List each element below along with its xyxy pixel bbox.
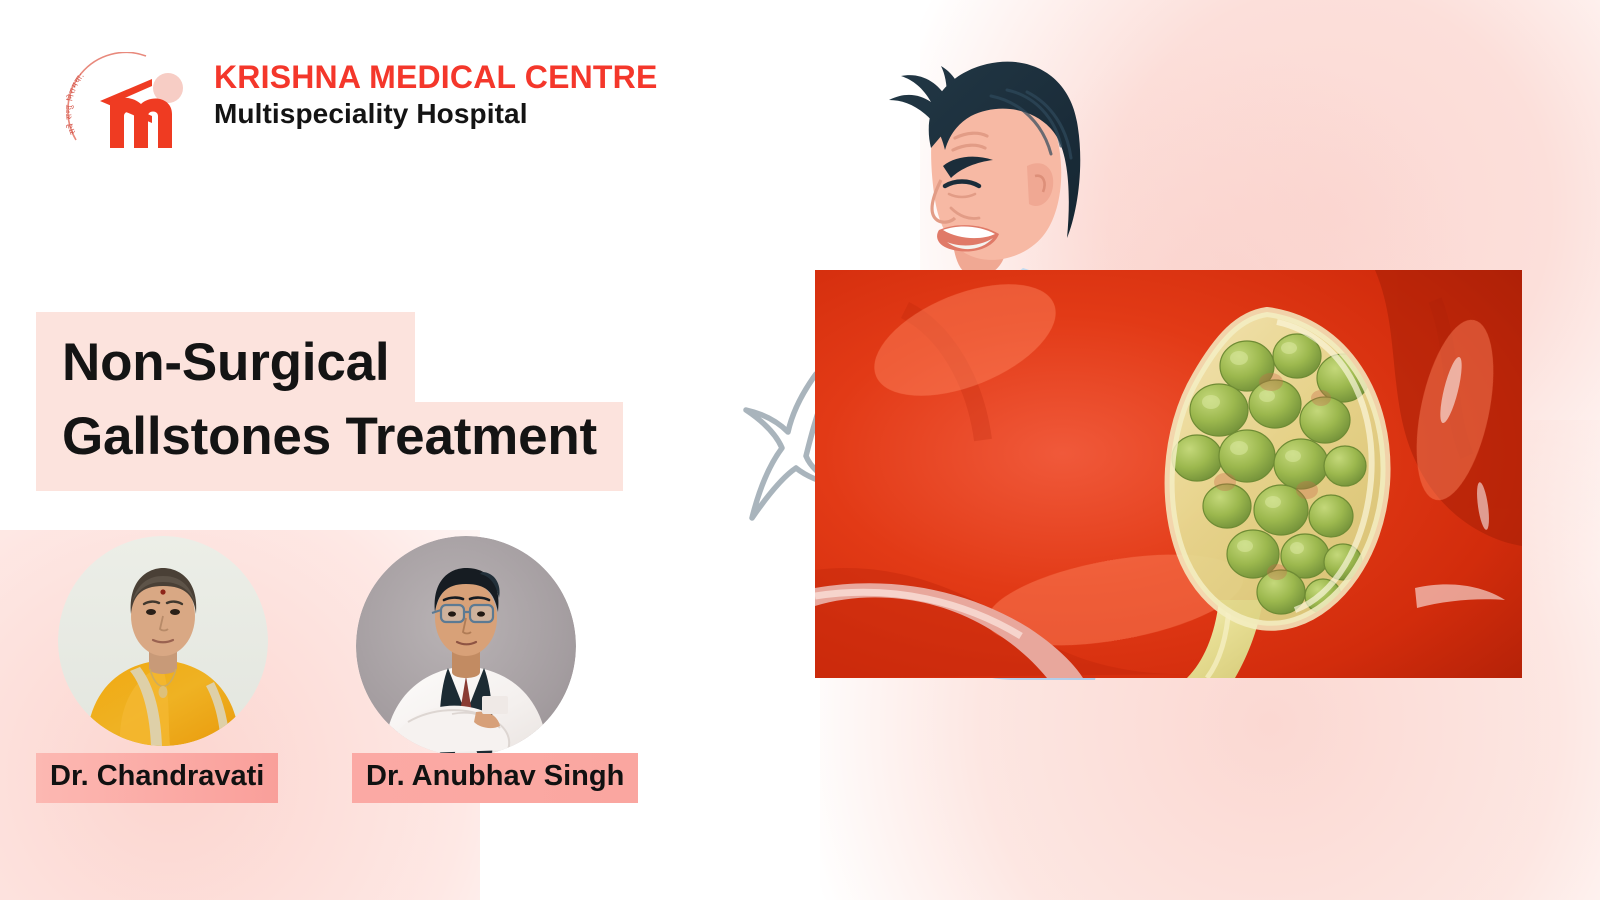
illustration-group: [700, 0, 1600, 900]
doctor-name-1: Dr. Chandravati: [36, 753, 278, 803]
svg-text:सर्वे सन्तु निरामया:: सर्वे सन्तु निरामया:: [66, 70, 86, 136]
brand-name-secondary: Multispeciality Hospital: [214, 98, 658, 130]
logo-mark-icon: सर्वे सन्तु निरामया:: [66, 52, 196, 148]
avatar: [356, 536, 576, 756]
headline-row-2: Gallstones Treatment: [36, 403, 623, 491]
brand-logo-text: KRISHNA MEDICAL CENTRE Multispeciality H…: [214, 60, 658, 130]
doctor-card-2[interactable]: Dr. Anubhav Singh: [356, 536, 576, 756]
headline-row-1: Non-Surgical: [36, 312, 623, 403]
brand-name-primary: KRISHNA MEDICAL CENTRE: [214, 60, 658, 95]
headline-line-2: Gallstones Treatment: [36, 402, 623, 491]
doctor-card-1[interactable]: Dr. Chandravati: [58, 536, 268, 746]
doctor-name-2: Dr. Anubhav Singh: [352, 753, 638, 803]
avatar: [58, 536, 268, 746]
poster-canvas: सर्वे सन्तु निरामया: KRISHNA MEDICAL CEN…: [0, 0, 1600, 900]
page-title: Non-Surgical Gallstones Treatment: [36, 312, 623, 491]
headline-line-1: Non-Surgical: [36, 312, 415, 403]
brand-logo[interactable]: सर्वे सन्तु निरामया: KRISHNA MEDICAL CEN…: [66, 52, 626, 148]
gallbladder-photo: [815, 270, 1522, 678]
